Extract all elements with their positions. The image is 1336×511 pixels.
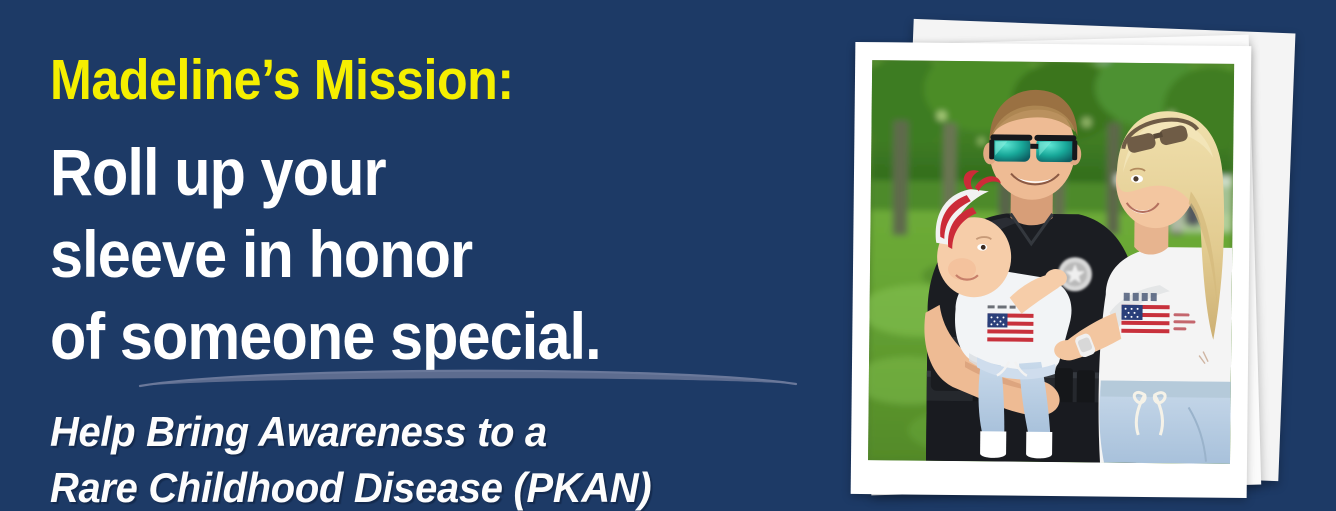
headline-line-2: sleeve in honor [50, 213, 601, 295]
family-photo [868, 60, 1234, 464]
sub-headline-line-2: Rare Childhood Disease (PKAN) [50, 460, 651, 511]
headline-line-1: Roll up your [50, 131, 601, 213]
sub-headline-line-1: Help Bring Awareness to a [50, 404, 651, 460]
headline-main: Roll up your sleeve in honor of someone … [50, 131, 601, 377]
text-column: Madeline’s Mission: Roll up your sleeve … [0, 0, 840, 511]
family-photo-illustration [868, 60, 1234, 464]
headline-kicker: Madeline’s Mission: [50, 52, 514, 109]
photo-frame-front [851, 42, 1252, 498]
awareness-banner: Madeline’s Mission: Roll up your sleeve … [0, 0, 1336, 511]
headline-line-3: of someone special. [50, 295, 601, 377]
sub-headline: Help Bring Awareness to a Rare Childhood… [50, 404, 651, 511]
photo-stack [843, 14, 1323, 504]
